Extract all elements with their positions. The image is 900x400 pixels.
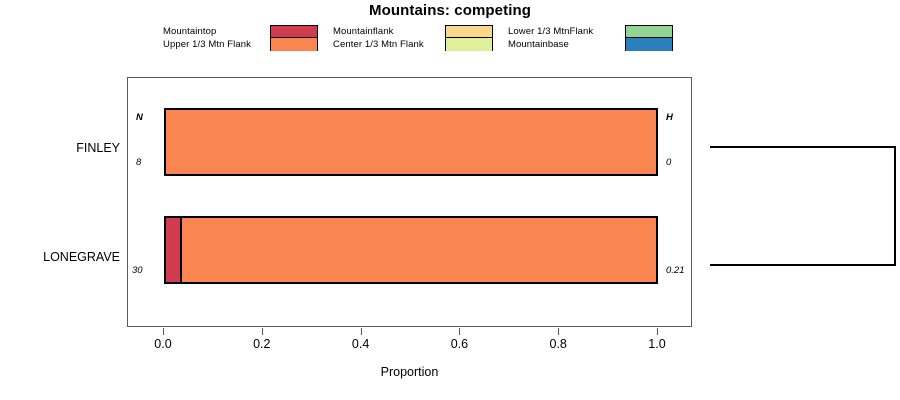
x-axis-tick-label: 0.0 bbox=[154, 337, 171, 351]
legend-swatch-mountaintop bbox=[271, 26, 317, 38]
x-axis-tick-label: 0.8 bbox=[549, 337, 566, 351]
legend-labels: Lower 1/3 MtnFlank Mountainbase bbox=[508, 25, 593, 51]
x-axis-tick bbox=[558, 328, 559, 335]
n-value-finley: 8 bbox=[136, 157, 141, 168]
n-value-lonegrave: 30 bbox=[132, 265, 143, 276]
h-value-finley: 0 bbox=[666, 157, 671, 168]
legend-item-label-upper-third-mtn-flank: Upper 1/3 Mtn Flank bbox=[163, 38, 251, 51]
legend-swatch-group-1 bbox=[270, 25, 318, 51]
legend-labels: Mountainflank Center 1/3 Mtn Flank bbox=[333, 25, 424, 51]
x-axis-tick-label: 0.2 bbox=[253, 337, 270, 351]
x-axis-tick bbox=[163, 328, 164, 335]
bar-segment-upper-third-mtn-flank bbox=[182, 218, 656, 282]
legend-swatch-lower-third-mtn-flank bbox=[626, 26, 672, 38]
legend-item-label-center-third-mtn-flank: Center 1/3 Mtn Flank bbox=[333, 38, 424, 51]
x-axis-tick-label: 0.4 bbox=[352, 337, 369, 351]
h-value-lonegrave: 0.21 bbox=[666, 265, 685, 276]
side-panel-box bbox=[710, 146, 896, 266]
plot-area: N 8 H 0 30 0.21 bbox=[127, 77, 692, 327]
x-axis-tick bbox=[262, 328, 263, 335]
x-axis-title: Proportion bbox=[127, 365, 692, 379]
x-axis-tick-label: 0.6 bbox=[451, 337, 468, 351]
y-axis-category-label-lonegrave: LONEGRAVE bbox=[0, 250, 120, 264]
table-row[interactable] bbox=[164, 108, 658, 176]
x-axis-tick bbox=[657, 328, 658, 335]
x-axis: 0.00.20.40.60.81.0 bbox=[127, 328, 692, 340]
legend-swatch-mountainbase bbox=[626, 38, 672, 51]
legend-swatch-center-third-mtn-flank bbox=[446, 38, 492, 51]
y-axis-category-label-finley: FINLEY bbox=[0, 141, 120, 155]
bar-segment-upper-third-mtn-flank bbox=[166, 110, 656, 174]
legend-item-label-mountainbase: Mountainbase bbox=[508, 38, 593, 51]
legend: Mountaintop Upper 1/3 Mtn Flank Mountain… bbox=[163, 25, 673, 51]
legend-swatch-group-2 bbox=[445, 25, 493, 51]
legend-item-label-mountaintop: Mountaintop bbox=[163, 25, 251, 38]
h-header-label: H bbox=[666, 112, 673, 123]
legend-item-label-mountainflank: Mountainflank bbox=[333, 25, 424, 38]
legend-swatch-group-3 bbox=[625, 25, 673, 51]
legend-swatch-mountainflank bbox=[446, 26, 492, 38]
x-axis-tick bbox=[459, 328, 460, 335]
n-header-label: N bbox=[136, 112, 143, 123]
table-row[interactable] bbox=[164, 216, 658, 284]
legend-labels: Mountaintop Upper 1/3 Mtn Flank bbox=[163, 25, 251, 51]
legend-column-1: Mountaintop Upper 1/3 Mtn Flank bbox=[163, 25, 318, 51]
legend-column-3: Lower 1/3 MtnFlank Mountainbase bbox=[508, 25, 673, 51]
page-title: Mountains: competing bbox=[0, 2, 900, 19]
x-axis-tick-label: 1.0 bbox=[648, 337, 665, 351]
legend-item-label-lower-third-mtn-flank: Lower 1/3 MtnFlank bbox=[508, 25, 593, 38]
x-axis-tick bbox=[361, 328, 362, 335]
legend-column-2: Mountainflank Center 1/3 Mtn Flank bbox=[333, 25, 493, 51]
legend-swatch-upper-third-mtn-flank bbox=[271, 38, 317, 51]
bar-segment-mountaintop bbox=[166, 218, 182, 282]
